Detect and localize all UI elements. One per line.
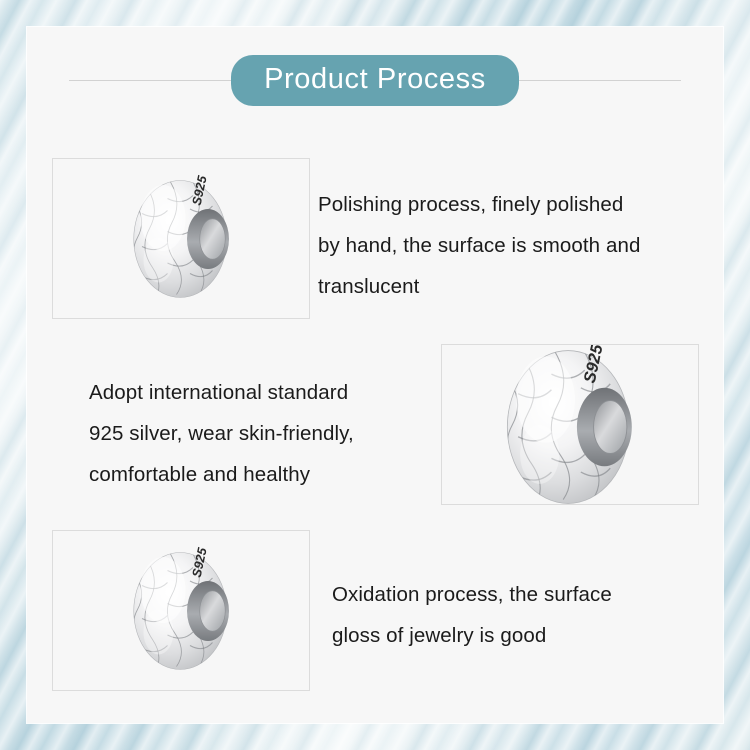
silver-bead-image-3: S925 xyxy=(109,536,259,686)
description-line: gloss of jewelry is good xyxy=(332,615,677,656)
description-line: Oxidation process, the surface xyxy=(332,574,677,615)
description-line: translucent xyxy=(318,266,700,307)
product-image-frame-2: S925 xyxy=(441,344,699,505)
page-title: Product Process xyxy=(231,55,519,106)
silver-bead-image-2: S925 xyxy=(475,344,671,505)
description-line: comfortable and healthy xyxy=(89,454,429,495)
description-line: Polishing process, finely polished xyxy=(318,184,700,225)
description-text-2: Adopt international standard 925 silver,… xyxy=(89,372,429,495)
description-line: 925 silver, wear skin-friendly, xyxy=(89,413,429,454)
description-text-3: Oxidation process, the surface gloss of … xyxy=(332,574,677,656)
silver-bead-icon: S925 xyxy=(109,536,259,686)
content-card: Product Process xyxy=(27,27,723,723)
product-image-frame-1: S925 xyxy=(52,158,310,319)
page-title-row: Product Process xyxy=(27,59,723,101)
description-line: Adopt international standard xyxy=(89,372,429,413)
silver-bead-image-1: S925 xyxy=(109,164,259,314)
infographic-page: Product Process xyxy=(0,0,750,750)
silver-bead-icon: S925 xyxy=(109,164,259,314)
description-line: by hand, the surface is smooth and xyxy=(318,225,700,266)
product-image-frame-3: S925 xyxy=(52,530,310,691)
description-text-1: Polishing process, finely polished by ha… xyxy=(318,184,700,307)
silver-bead-icon: S925 xyxy=(475,344,671,505)
